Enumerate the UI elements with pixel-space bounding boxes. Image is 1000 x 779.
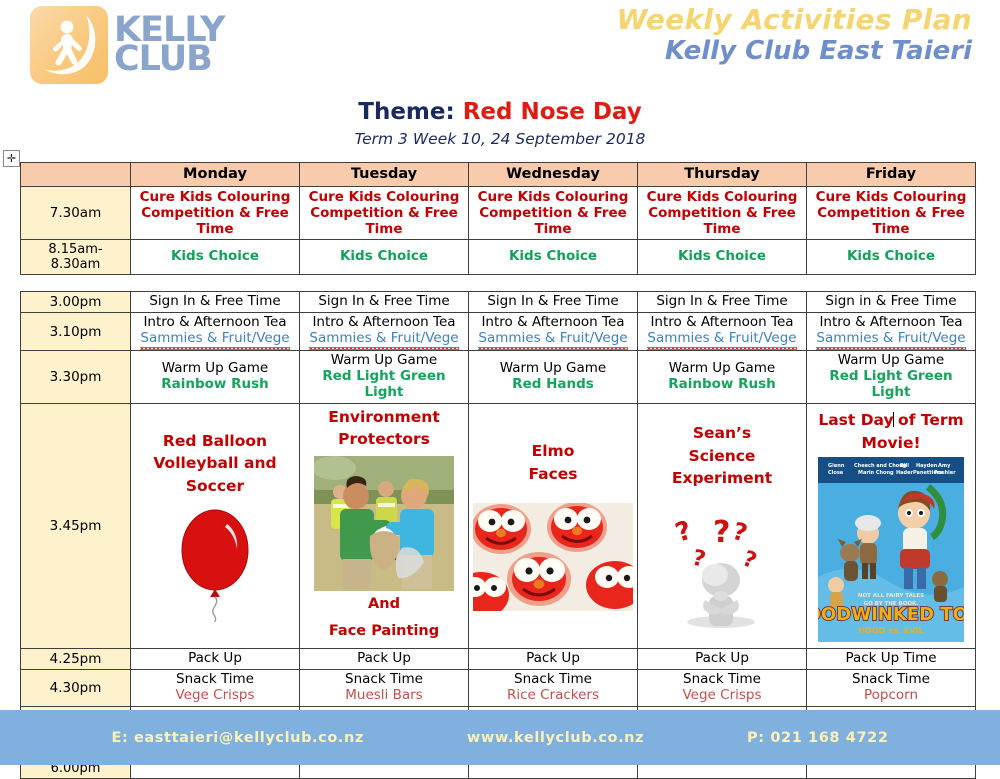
activity-sub: Rice Crackers	[507, 687, 599, 703]
hoodwinked-too-movie-poster-image: GlennClose Cheech and ChongMarin Chong B…	[818, 457, 964, 642]
svg-text:Close: Close	[828, 470, 844, 476]
time-label: 7.30am	[21, 186, 131, 240]
afternoon-schedule-table: 3.00pm Sign In & Free Time Sign In & Fre…	[20, 291, 976, 778]
table-row: 7.30am Cure Kids ColouringCompetition & …	[21, 186, 976, 240]
activity-line-1: Cure Kids Colouring	[816, 189, 967, 205]
activity-text: Kids Choice	[678, 248, 766, 264]
activity-main: Intro & Afternoon Tea	[650, 314, 793, 330]
activity-sub: Red Light Green Light	[829, 368, 952, 400]
main-activity-row: 3.45pm Red Balloon Volleyball and Soccer	[21, 403, 976, 648]
svg-text:HOODWINKED TOO!: HOODWINKED TOO!	[818, 604, 964, 625]
activity-text: Kids Choice	[509, 248, 597, 264]
page-title: Weekly Activities Plan	[617, 4, 972, 36]
svg-text:Cheech and Chong: Cheech and Chong	[854, 463, 907, 469]
day-header-tuesday: Tuesday	[300, 162, 469, 186]
day-header-thursday: Thursday	[638, 162, 807, 186]
table-row: 3.10pm Intro & Afternoon TeaSammies & Fr…	[21, 313, 976, 351]
activity-main: Snack Time	[176, 671, 254, 687]
table-row: 3.30pm Warm Up GameRainbow Rush Warm Up …	[21, 351, 976, 404]
activity-cell[interactable]: Pack Up Time	[807, 648, 976, 669]
activity-line-2: Competition & Free Time	[141, 205, 289, 237]
svg-text:Poehler: Poehler	[934, 470, 956, 476]
theme-name: Red Nose Day	[463, 99, 642, 125]
activity-cell[interactable]: Pack Up	[300, 648, 469, 669]
activity-cell[interactable]: Sign In & Free Time	[300, 292, 469, 313]
activity-main: Warm Up Game	[500, 360, 606, 376]
activity-cell[interactable]: Sign In & Free Time	[131, 292, 300, 313]
activity-cell[interactable]: Kids Choice	[469, 240, 638, 275]
activity-title: Environment Protectors	[303, 406, 465, 451]
logo-line-2: CLUB	[114, 45, 225, 74]
activity-cell-wednesday[interactable]: Elmo Faces	[469, 403, 638, 648]
table-move-handle-icon[interactable]: ✛	[3, 150, 20, 167]
activity-cell[interactable]: Snack TimeRice Crackers	[469, 669, 638, 706]
activity-cell-friday[interactable]: Last Day of TermLast Day of Term Movie! …	[807, 403, 976, 648]
day-header-wednesday: Wednesday	[469, 162, 638, 186]
morning-schedule-table: Monday Tuesday Wednesday Thursday Friday…	[20, 162, 976, 276]
activity-cell[interactable]: Kids Choice	[131, 240, 300, 275]
activity-line-1: Cure Kids Colouring	[140, 189, 291, 205]
svg-text:HOOD vs. EVIL: HOOD vs. EVIL	[858, 626, 923, 635]
activity-main: Warm Up Game	[669, 360, 775, 376]
activity-cell[interactable]: Pack Up	[469, 648, 638, 669]
red-balloon-image	[169, 502, 261, 622]
activity-line-2: Competition & Free Time	[310, 205, 458, 237]
thinking-figure-question-marks-image: ? ? ? ? ?	[657, 502, 787, 630]
activity-cell[interactable]: Snack TimePopcorn	[807, 669, 976, 706]
activity-cell[interactable]: Sign In & Free Time	[638, 292, 807, 313]
activity-main: Intro & Afternoon Tea	[819, 314, 962, 330]
activity-cell-tuesday[interactable]: Environment Protectors	[300, 403, 469, 648]
activity-text: Kids Choice	[340, 248, 428, 264]
time-label: 3.30pm	[21, 351, 131, 404]
svg-text:Bill: Bill	[900, 463, 909, 469]
activity-title: Last Day of TermLast Day of Term Movie!	[810, 409, 972, 454]
activity-text: Kids Choice	[847, 248, 935, 264]
theme-heading: Theme: Red Nose Day	[0, 98, 1000, 127]
activity-cell[interactable]: Snack TimeVege Crisps	[131, 669, 300, 706]
activity-sub: Rainbow Rush	[161, 376, 269, 392]
activity-cell[interactable]: Warm Up GameRed Light Green Light	[807, 351, 976, 404]
activity-cell[interactable]: Sign In & Free Time	[469, 292, 638, 313]
activity-cell[interactable]: Warm Up GameRed Hands	[469, 351, 638, 404]
document-title-block: Weekly Activities Plan Kelly Club East T…	[617, 4, 972, 67]
activity-sub: Muesli Bars	[345, 687, 422, 703]
activity-extra: And Face Painting	[303, 591, 465, 646]
page-subtitle: Kelly Club East Taieri	[617, 36, 972, 67]
activity-sub: Vege Crisps	[682, 687, 761, 703]
text-cursor-caret	[893, 412, 894, 427]
activity-cell-thursday[interactable]: Sean’s Science Experiment ? ? ? ? ?	[638, 403, 807, 648]
svg-text:?: ?	[713, 515, 730, 550]
activity-main: Intro & Afternoon Tea	[312, 314, 455, 330]
activity-sub: Sammies & Fruit/Vege	[647, 331, 796, 348]
activity-sub: Popcorn	[864, 687, 918, 703]
activity-main: Snack Time	[345, 671, 423, 687]
activity-title: Sean’s Science Experiment	[641, 422, 803, 489]
kids-litter-cleanup-image	[314, 456, 454, 591]
activity-title-line-1: Last Day of TermLast Day of Term	[818, 411, 963, 429]
activity-cell[interactable]: Cure Kids ColouringCompetition & Free Ti…	[469, 186, 638, 240]
activity-cell[interactable]: Kids Choice	[807, 240, 976, 275]
table-header-row: Monday Tuesday Wednesday Thursday Friday	[21, 162, 976, 186]
activity-cell[interactable]: Sign in & Free Time	[807, 292, 976, 313]
logo-wordmark: KELLY CLUB	[114, 16, 225, 75]
activity-main: Warm Up Game	[162, 360, 268, 376]
kelly-club-logo: KELLY CLUB	[30, 6, 225, 84]
time-label: 8.15am-8.30am	[21, 240, 131, 275]
activity-line-2: Competition & Free Time	[817, 205, 965, 237]
activity-sub: Red Light Green Light	[322, 368, 445, 400]
activity-cell[interactable]: Pack Up	[131, 648, 300, 669]
activity-cell[interactable]: Kids Choice	[638, 240, 807, 275]
activity-sub: Red Hands	[512, 376, 594, 392]
activity-main: Snack Time	[683, 671, 761, 687]
time-label: 4.25pm	[21, 648, 131, 669]
activity-cell-monday[interactable]: Red Balloon Volleyball and Soccer	[131, 403, 300, 648]
activity-cell[interactable]: Intro & Afternoon TeaSammies & Fruit/Veg…	[469, 313, 638, 351]
day-header-monday: Monday	[131, 162, 300, 186]
svg-text:Hader: Hader	[896, 470, 914, 476]
activity-cell[interactable]: Cure Kids ColouringCompetition & Free Ti…	[638, 186, 807, 240]
activity-line-2: Competition & Free Time	[648, 205, 796, 237]
activity-cell[interactable]: Intro & Afternoon TeaSammies & Fruit/Veg…	[807, 313, 976, 351]
activity-cell[interactable]: Warm Up GameRed Light Green Light	[300, 351, 469, 404]
activity-main: Intro & Afternoon Tea	[481, 314, 624, 330]
activity-sub: Sammies & Fruit/Vege	[140, 331, 289, 348]
activity-cell[interactable]: Snack TimeVege Crisps	[638, 669, 807, 706]
activity-cell[interactable]: Intro & Afternoon TeaSammies & Fruit/Veg…	[300, 313, 469, 351]
time-label: 3.45pm	[21, 403, 131, 648]
running-child-glyph	[36, 11, 102, 79]
activity-main: Warm Up Game	[331, 352, 437, 368]
activity-title: Elmo Faces	[472, 440, 634, 485]
table-row: 4.25pm Pack Up Pack Up Pack Up Pack Up P…	[21, 648, 976, 669]
time-label: 3.00pm	[21, 292, 131, 313]
footer-website[interactable]: www.kellyclub.co.nz	[467, 730, 644, 746]
time-label: 3.10pm	[21, 313, 131, 351]
activity-line-1: Cure Kids Colouring	[478, 189, 629, 205]
page-header: KELLY CLUB Weekly Activities Plan Kelly …	[0, 0, 1000, 92]
activity-line-1: Cure Kids Colouring	[647, 189, 798, 205]
activity-main: Intro & Afternoon Tea	[143, 314, 286, 330]
table-row: 3.00pm Sign In & Free Time Sign In & Fre…	[21, 292, 976, 313]
svg-text:Glenn: Glenn	[828, 463, 845, 469]
activity-line-2: Competition & Free Time	[479, 205, 627, 237]
day-header-friday: Friday	[807, 162, 976, 186]
activity-cell[interactable]: Intro & Afternoon TeaSammies & Fruit/Veg…	[131, 313, 300, 351]
activity-cell[interactable]: Warm Up GameRainbow Rush	[131, 351, 300, 404]
activity-main: Warm Up Game	[838, 352, 944, 368]
svg-text:NOT ALL FAIRY TALES: NOT ALL FAIRY TALES	[858, 593, 924, 599]
activity-main: Snack Time	[852, 671, 930, 687]
header-corner-cell	[21, 162, 131, 186]
friday-title-with-caret: Last Day of Term	[818, 411, 963, 429]
svg-text:Marin Chong: Marin Chong	[858, 470, 894, 476]
activity-cell[interactable]: Warm Up GameRainbow Rush	[638, 351, 807, 404]
activity-sub: Sammies & Fruit/Vege	[816, 331, 965, 348]
activity-cell[interactable]: Cure Kids ColouringCompetition & Free Ti…	[131, 186, 300, 240]
activity-text: Kids Choice	[171, 248, 259, 264]
footer-phone: P: 021 168 4722	[747, 730, 888, 746]
activity-line-1: Cure Kids Colouring	[309, 189, 460, 205]
footer-email[interactable]: E: easttaieri@kellyclub.co.nz	[111, 730, 364, 746]
activity-cell[interactable]: Pack Up	[638, 648, 807, 669]
elmo-face-cookies-image	[473, 503, 633, 611]
activity-cell[interactable]: Intro & Afternoon TeaSammies & Fruit/Veg…	[638, 313, 807, 351]
activity-cell[interactable]: Cure Kids ColouringCompetition & Free Ti…	[300, 186, 469, 240]
term-week-date: Term 3 Week 10, 24 September 2018	[0, 130, 1000, 148]
activity-sub: Vege Crisps	[175, 687, 254, 703]
activity-cell[interactable]: Snack TimeMuesli Bars	[300, 669, 469, 706]
activity-cell[interactable]: Cure Kids ColouringCompetition & Free Ti…	[807, 186, 976, 240]
table-row: 8.15am-8.30am Kids Choice Kids Choice Ki…	[21, 240, 976, 275]
activity-main: Snack Time	[514, 671, 592, 687]
svg-text:Amy: Amy	[938, 463, 951, 469]
contact-footer: E: easttaieri@kellyclub.co.nz www.kellyc…	[0, 710, 1000, 765]
theme-label: Theme:	[358, 99, 462, 125]
activity-sub: Sammies & Fruit/Vege	[478, 331, 627, 348]
activity-sub: Sammies & Fruit/Vege	[309, 331, 458, 348]
activity-sub: Rainbow Rush	[668, 376, 776, 392]
activity-cell[interactable]: Kids Choice	[300, 240, 469, 275]
table-row: 4.30pm Snack TimeVege Crisps Snack TimeM…	[21, 669, 976, 706]
activity-title: Red Balloon Volleyball and Soccer	[134, 430, 296, 497]
svg-text:Hayden: Hayden	[916, 463, 938, 469]
theme-block: Theme: Red Nose Day Term 3 Week 10, 24 S…	[0, 98, 1000, 148]
time-label: 4.30pm	[21, 669, 131, 706]
running-child-icon	[30, 6, 108, 84]
